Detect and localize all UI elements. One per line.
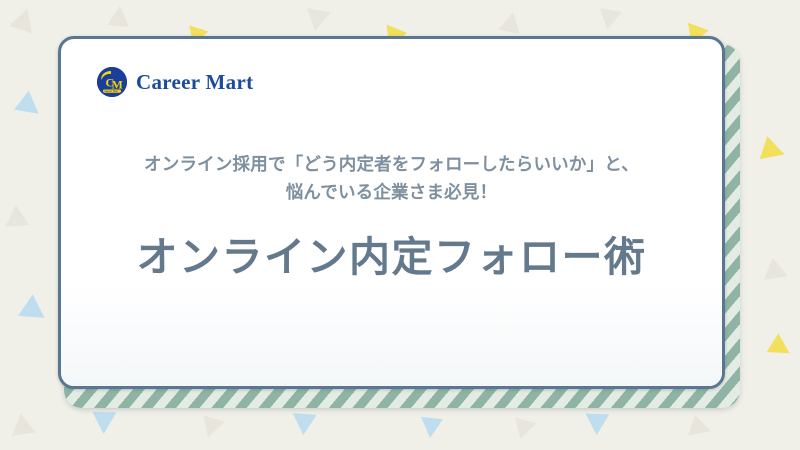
triangle-gray-1-icon: [9, 5, 39, 33]
brand-logo: C M Career Mart Career Mart: [97, 67, 253, 97]
triangle-blue-5-icon: [419, 417, 443, 439]
triangle-gray-6-icon: [5, 205, 34, 236]
main-title: オンライン内定フォロー術: [83, 233, 700, 282]
triangle-gray-10-icon: [510, 417, 536, 441]
logo-subtext: Career Mart: [104, 89, 118, 93]
triangle-blue-4-icon: [291, 413, 316, 436]
triangle-blue-2-icon: [18, 294, 52, 328]
subtitle-line-1: オンライン採用で「どう内定者をフォローしたらいいか」と、: [83, 151, 700, 179]
triangle-gray-11-icon: [688, 414, 714, 441]
slide-card: C M Career Mart Career Mart オンライン採用で「どう内…: [58, 36, 740, 408]
triangle-gray-7-icon: [764, 257, 792, 287]
triangle-gray-3-icon: [303, 8, 330, 33]
card-face: C M Career Mart Career Mart オンライン採用で「どう内…: [58, 36, 725, 389]
triangle-yellow-4-icon: [760, 136, 788, 166]
headline-block: オンライン採用で「どう内定者をフォローしたらいいか」と、 悩んでいる企業さま必見…: [61, 151, 722, 282]
career-mart-logo-icon: C M Career Mart: [97, 67, 127, 97]
triangle-gray-5-icon: [596, 8, 621, 32]
triangle-yellow-5-icon: [767, 333, 796, 362]
triangle-gray-2-icon: [107, 5, 131, 27]
triangle-blue-1-icon: [14, 91, 46, 123]
triangle-blue-3-icon: [92, 412, 117, 435]
triangle-gray-4-icon: [498, 10, 524, 34]
brand-name: Career Mart: [136, 70, 253, 95]
subtitle-line-2: 悩んでいる企業さま必見！: [83, 179, 700, 207]
triangle-gray-8-icon: [12, 413, 40, 443]
triangle-blue-6-icon: [585, 414, 610, 436]
triangle-gray-9-icon: [197, 415, 224, 441]
